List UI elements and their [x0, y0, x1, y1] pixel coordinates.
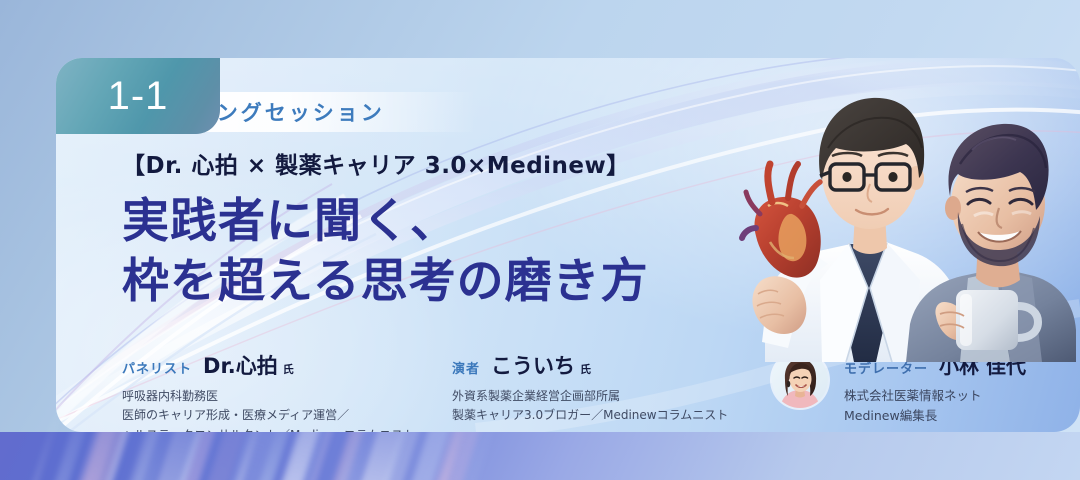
speaker-panelist-suffix: 氏 — [283, 361, 294, 377]
speaker-panelist-name: Dr.心拍 — [203, 350, 278, 380]
headline-subtitle: 【Dr. 心拍 × 製薬キャリア 3.0×Medinew】 — [122, 146, 649, 180]
speakers-row: パネリスト Dr.心拍 氏 呼吸器内科勤務医 医師のキャリア形成・医療メディア運… — [56, 350, 1080, 432]
session-number-badge: 1-1 — [56, 58, 220, 134]
speaker-moderator-bio-line-1: 株式会社医薬情報ネット — [844, 386, 1026, 406]
speaker-moderator-bio-line-2: Medinew編集長 — [844, 406, 1026, 426]
speaker-presenter: 演者 こういち 氏 外資系製薬企業経営企画部所属 製薬キャリア3.0ブロガー／M… — [452, 350, 728, 426]
man-with-mug-figure — [906, 124, 1076, 362]
headline-block: 【Dr. 心拍 × 製薬キャリア 3.0×Medinew】 実践者に聞く、 枠を… — [122, 146, 649, 312]
speaker-panelist-bio-line-1: 呼吸器内科勤務医 — [122, 387, 415, 406]
speaker-panelist-heading: パネリスト Dr.心拍 氏 — [122, 350, 415, 380]
speaker-presenter-bio-line-1: 外資系製薬企業経営企画部所属 — [452, 387, 728, 406]
speaker-panelist-bio-line-3: ヘルステックコンサルタント／Medinewコラムニスト — [122, 426, 415, 432]
speaker-presenter-heading: 演者 こういち 氏 — [452, 350, 728, 380]
speaker-presenter-suffix: 氏 — [580, 361, 591, 377]
speaker-panelist-bio-line-2: 医師のキャリア形成・医療メディア運営／ — [122, 406, 415, 425]
speaker-panelist: パネリスト Dr.心拍 氏 呼吸器内科勤務医 医師のキャリア形成・医療メディア運… — [122, 350, 415, 432]
speaker-presenter-role: 演者 — [452, 358, 480, 377]
session-number-label: 1-1 — [108, 76, 169, 116]
speaker-panelist-role: パネリスト — [122, 358, 192, 377]
speaker-illustration-group — [710, 58, 1080, 362]
headline-title-line-1: 実践者に聞く、 — [122, 192, 649, 252]
speaker-presenter-name: こういち — [491, 350, 575, 380]
headline-title-line-2: 枠を超える思考の磨き方 — [122, 252, 649, 312]
speaker-presenter-bio-line-2: 製薬キャリア3.0ブロガー／Medinewコラムニスト — [452, 406, 728, 425]
session-card: 1-1 オープニングセッション 【Dr. 心拍 × 製薬キャリア 3.0×Med… — [56, 58, 1080, 432]
anatomical-heart-icon — [742, 164, 821, 278]
headline-title: 実践者に聞く、 枠を超える思考の磨き方 — [122, 192, 649, 312]
